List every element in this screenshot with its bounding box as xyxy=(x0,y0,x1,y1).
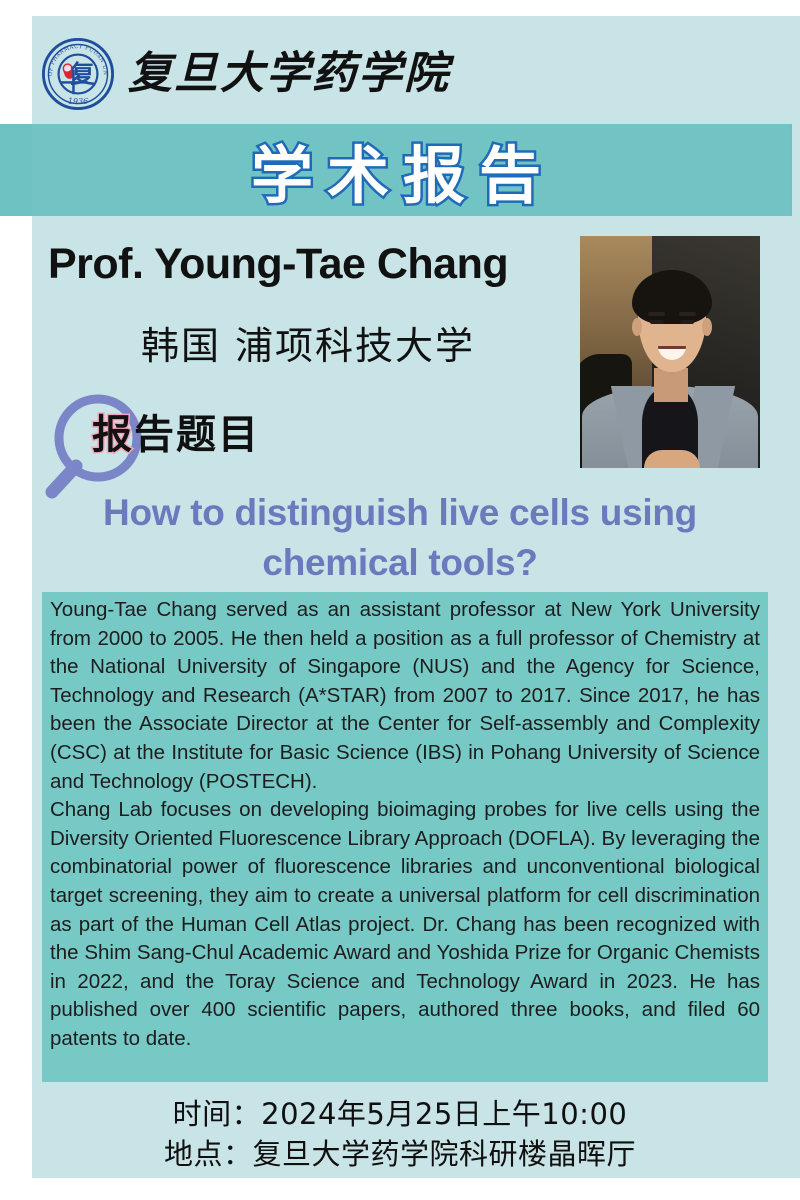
talk-title: How to distinguish live cells using chem… xyxy=(44,488,756,588)
portrait-eyebrow-left xyxy=(648,312,665,316)
topic-label-rest: 告题目 xyxy=(134,412,260,458)
topic-label-highlight: 报 xyxy=(92,412,134,458)
portrait-eye-left xyxy=(650,320,664,324)
svg-text:1936: 1936 xyxy=(68,97,88,106)
event-time: 时间：2024年5月25日上午10:00 xyxy=(0,1094,800,1134)
school-name: 复旦大学药学院 xyxy=(128,52,450,96)
speaker-name: Prof. Young-Tae Chang xyxy=(48,240,568,289)
event-location: 地点：复旦大学药学院科研楼晶晖厅 xyxy=(0,1134,800,1174)
poster-main-title: 学术报告 xyxy=(0,124,792,216)
portrait-hands xyxy=(644,450,700,468)
poster-header: SCHOOL OF PHARMACY FUDAN UNIVERSITY 1936… xyxy=(32,16,800,124)
event-details: 时间：2024年5月25日上午10:00 地点：复旦大学药学院科研楼晶晖厅 xyxy=(0,1094,800,1174)
speaker-affiliation: 韩国 浦项科技大学 xyxy=(48,315,568,370)
topic-label: 报告题目 xyxy=(92,402,260,460)
portrait-ear-right xyxy=(702,318,712,336)
portrait-eyebrow-right xyxy=(679,312,696,316)
portrait-ear-left xyxy=(632,318,642,336)
abstract-panel: Young-Tae Chang served as an assistant p… xyxy=(42,592,768,1082)
abstract-paragraph-2: Chang Lab focuses on developing bioimagi… xyxy=(50,796,760,1053)
speaker-portrait-photo xyxy=(580,236,760,468)
logo-row: SCHOOL OF PHARMACY FUDAN UNIVERSITY 1936… xyxy=(42,38,450,110)
abstract-paragraph-1: Young-Tae Chang served as an assistant p… xyxy=(50,596,760,796)
seminar-poster: SCHOOL OF PHARMACY FUDAN UNIVERSITY 1936… xyxy=(0,0,800,1200)
fudan-pharmacy-seal-icon: SCHOOL OF PHARMACY FUDAN UNIVERSITY 1936… xyxy=(42,38,114,110)
portrait-eye-right xyxy=(680,320,694,324)
portrait-neck xyxy=(654,368,688,402)
